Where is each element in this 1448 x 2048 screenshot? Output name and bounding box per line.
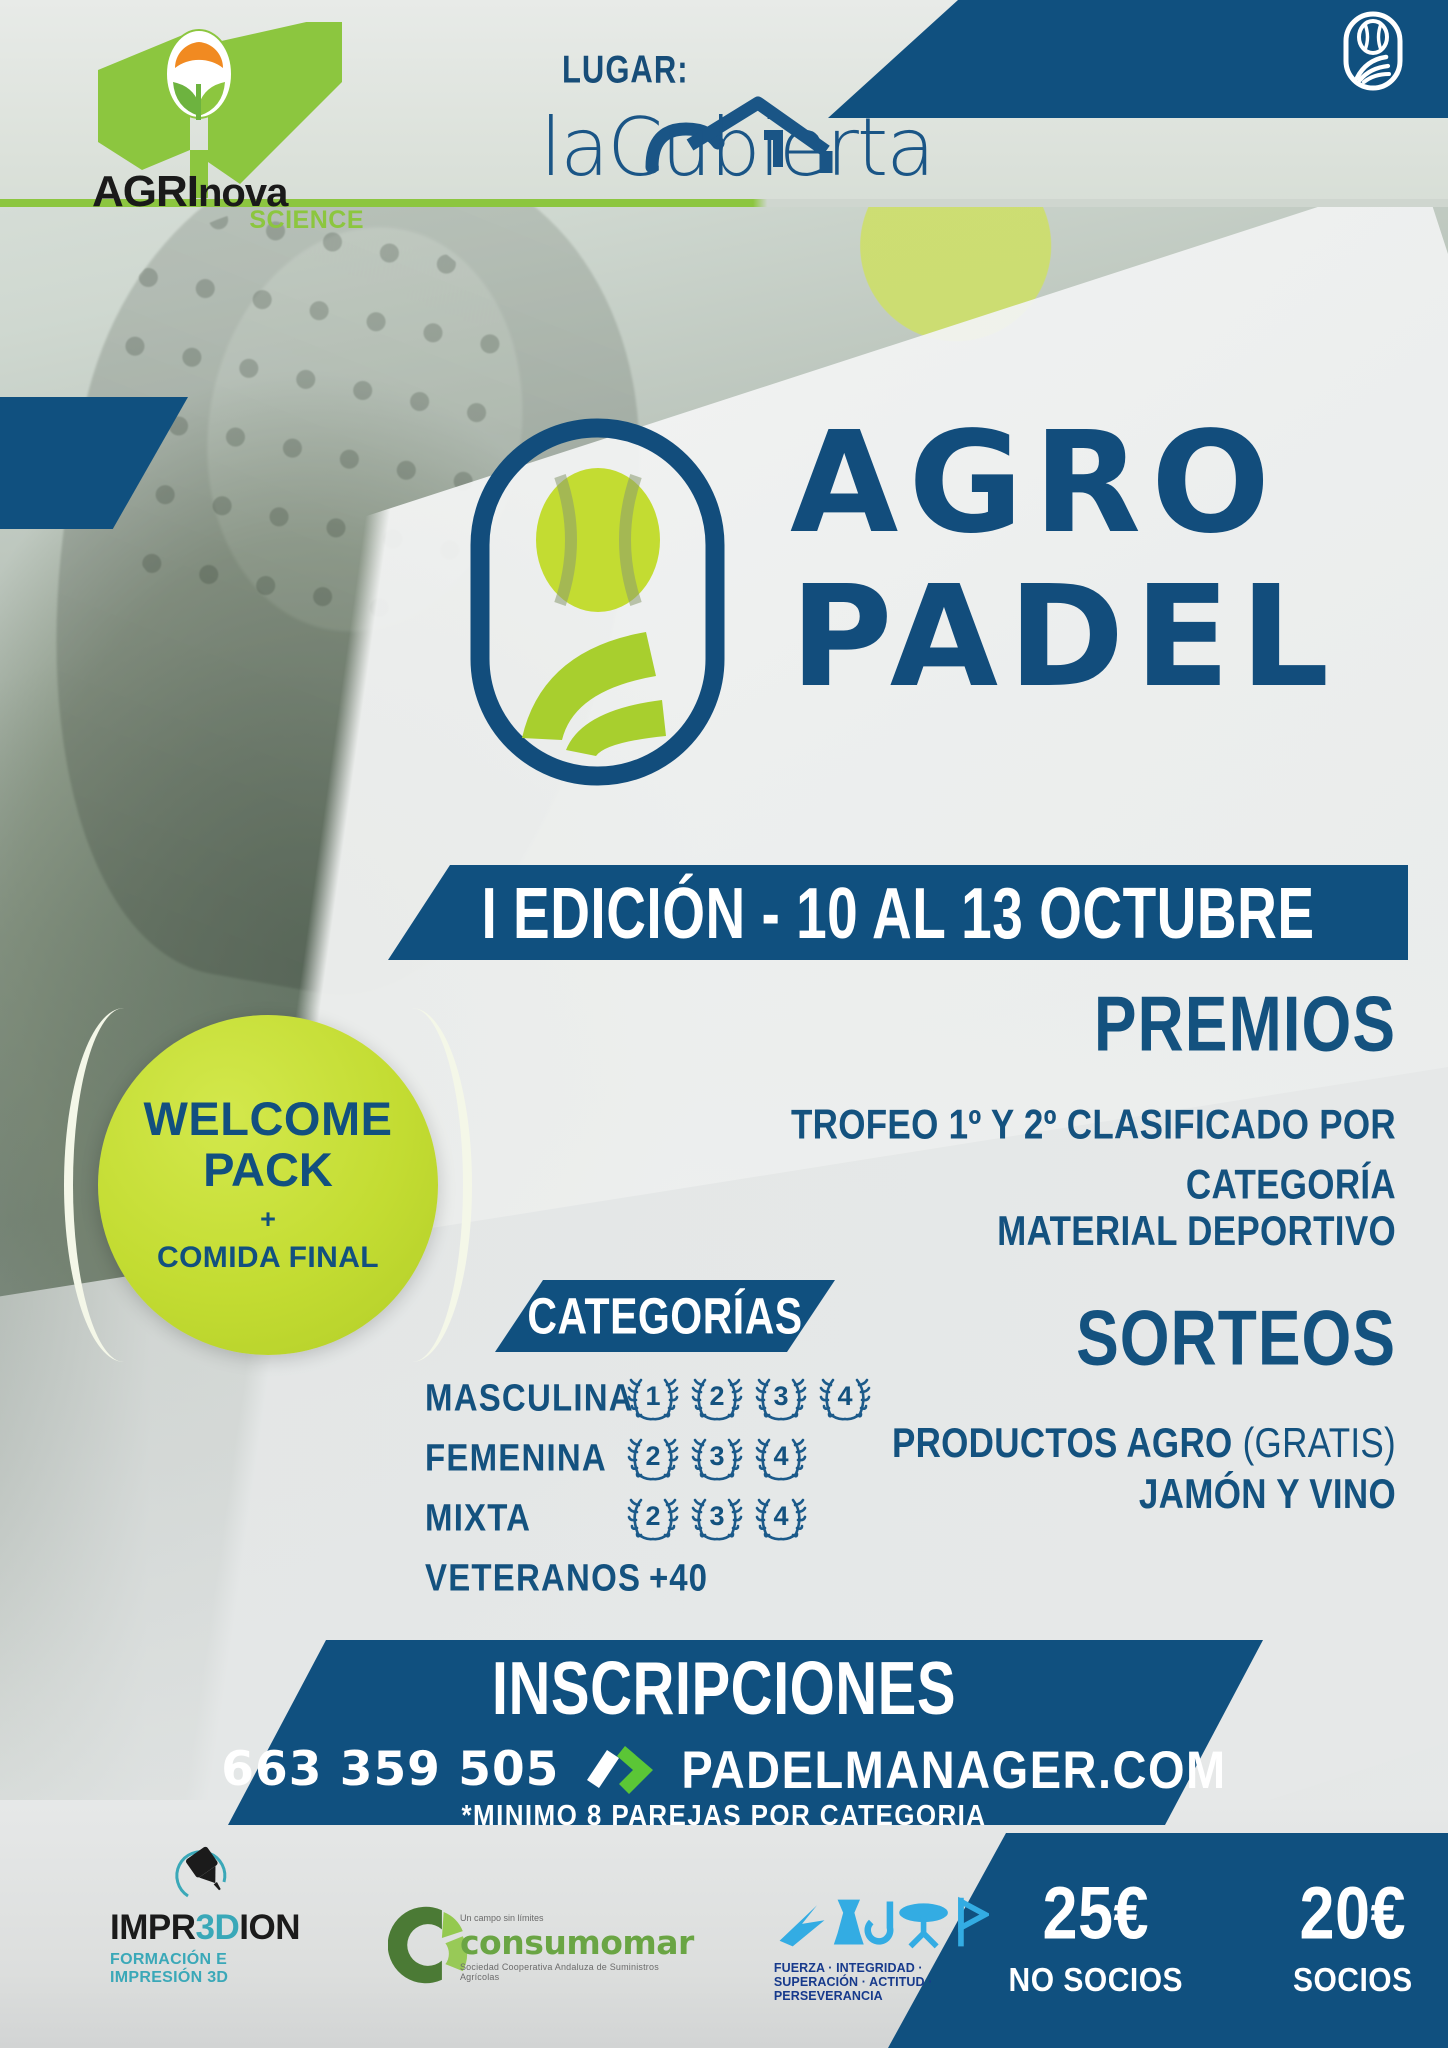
raffles-line-1-light: (GRATIS)	[1243, 1421, 1396, 1467]
consumomar-c-icon	[388, 1901, 468, 1994]
edition-banner: I EDICIÓN - 10 AL 13 OCTUBRE	[388, 865, 1408, 960]
sponsor-impr3dion: IMPR3DION FORMACIÓN E IMPRESIÓN 3D	[110, 1908, 300, 1987]
welcome-line-3: COMIDA FINAL	[157, 1241, 379, 1275]
hero-line-padel: PADEL	[790, 571, 1350, 704]
sponsor-name-a: IMPR	[110, 1908, 196, 1947]
category-name: FEMENINA	[425, 1436, 625, 1479]
laurel-icon: 2	[689, 1372, 745, 1424]
venue-label: LUGAR:	[562, 48, 689, 93]
category-name: MASCULINA	[425, 1376, 625, 1419]
laurel-number: 4	[753, 1492, 809, 1544]
sponsor-consumomar: Un campo sin límites consumomar Sociedad…	[388, 1901, 694, 1994]
agrinova-wordmark: AGRInova SCIENCE	[92, 170, 362, 222]
price-non-members: 25€ NO SOCIOS	[978, 1883, 1214, 1998]
sponsor-name: IMPR3DION	[110, 1908, 300, 1948]
laurel-group: 1 2 3	[625, 1372, 873, 1424]
price-amount: 25€	[1042, 1877, 1149, 1951]
laurel-icon: 1	[625, 1372, 681, 1424]
category-row-mixta: MIXTA 2 3	[425, 1488, 945, 1548]
agropadel-mark-icon	[470, 418, 725, 786]
welcome-plus: +	[260, 1204, 276, 1235]
lacubierta-logo: laCubierta	[540, 95, 960, 200]
laurel-group: 2 3 4	[625, 1432, 809, 1484]
laurel-number: 3	[689, 1492, 745, 1544]
registration-platform[interactable]: PADELMANAGER.COM	[681, 1739, 1226, 1801]
agropadel-ball-field-icon	[1342, 10, 1404, 92]
prizes-title: PREMIOS	[1094, 979, 1396, 1069]
category-name: MIXTA	[425, 1496, 625, 1539]
welcome-pack-ball: WELCOME PACK + COMIDA FINAL	[98, 1015, 438, 1355]
sponsor-tagline: Sociedad Cooperativa Andaluza de Suminis…	[460, 1962, 694, 1982]
registration-phone[interactable]: 663 359 505	[221, 1742, 559, 1797]
laurel-number: 2	[625, 1432, 681, 1484]
categories-banner: CATEGORÍAS	[495, 1280, 835, 1352]
category-name: VETERANOS	[425, 1556, 625, 1599]
sponsor-name: consumomar	[460, 1923, 694, 1962]
laurel-number: 1	[625, 1372, 681, 1424]
sponsor-tagline: FUERZA · INTEGRIDAD · SUPERACIÓN · ACTIT…	[774, 1961, 989, 2003]
sponsor-row: IMPR3DION FORMACIÓN E IMPRESIÓN 3D Un ca…	[110, 1882, 830, 2012]
poster: AGRInova SCIENCE LUGAR: laCubierta AGRO …	[0, 0, 1448, 2048]
laurel-icon: 3	[753, 1372, 809, 1424]
prizes-line-1: TROFEO 1º Y 2º CLASIFICADO POR CATEGORÍA	[706, 1096, 1396, 1216]
venue-name: laCubierta	[540, 101, 933, 194]
hero-line-agro: AGRO	[790, 420, 1350, 549]
sponsor-fisap: FUERZA · INTEGRIDAD · SUPERACIÓN · ACTIT…	[774, 1892, 989, 2003]
laurel-icon: 3	[689, 1492, 745, 1544]
raffles-title: SORTEOS	[1076, 1293, 1396, 1383]
laurel-group: 2 3 4	[625, 1492, 809, 1544]
prizes-line-2: MATERIAL DEPORTIVO	[706, 1202, 1396, 1262]
price-label: SOCIOS	[1293, 1962, 1413, 1999]
padelmanager-chevron-icon	[585, 1744, 655, 1796]
printer-3d-icon	[168, 1846, 238, 1913]
hero-title: AGRO PADEL	[790, 420, 1350, 704]
price-label: NO SOCIOS	[1009, 1962, 1184, 1999]
laurel-icon: 3	[689, 1432, 745, 1484]
welcome-line-2: PACK	[203, 1144, 333, 1197]
brand-science: SCIENCE	[249, 208, 364, 233]
sponsor-name-b: 3D	[196, 1908, 240, 1947]
sponsor-top-note: Un campo sin límites	[460, 1913, 694, 1923]
laurel-number: 4	[753, 1432, 809, 1484]
laurel-number: 4	[817, 1372, 873, 1424]
edition-text: I EDICIÓN - 10 AL 13 OCTUBRE	[481, 870, 1314, 954]
category-row-femenina: FEMENINA 2 3	[425, 1428, 945, 1488]
brand-agri: AGRI	[92, 167, 198, 216]
laurel-icon: 2	[625, 1432, 681, 1484]
sponsor-tagline: FORMACIÓN E IMPRESIÓN 3D	[110, 1951, 300, 1987]
category-row-veteranos: VETERANOS +40	[425, 1548, 945, 1608]
laurel-number: 3	[753, 1372, 809, 1424]
laurel-number: 3	[689, 1432, 745, 1484]
registration-title: INSCRIPCIONES	[0, 1645, 1448, 1732]
laurel-icon: 4	[817, 1372, 873, 1424]
sponsor-name-c: ION	[239, 1908, 300, 1947]
registration-contact-row: 663 359 505 PADELMANAGER.COM	[0, 1742, 1448, 1797]
welcome-line-1: WELCOME	[144, 1095, 393, 1144]
price-amount: 20€	[1299, 1877, 1406, 1951]
category-row-masculina: MASCULINA 1 2	[425, 1368, 945, 1428]
laurel-number: 2	[689, 1372, 745, 1424]
laurel-icon: 4	[753, 1432, 809, 1484]
fisap-pictogram-icon	[774, 1941, 989, 1958]
categories-banner-text: CATEGORÍAS	[527, 1287, 802, 1346]
registration-note: *MINIMO 8 PAREJAS POR CATEGORIA	[0, 1798, 1448, 1832]
category-veteranos-value: +40	[649, 1556, 708, 1599]
price-members: 20€ SOCIOS	[1258, 1883, 1448, 1998]
laurel-icon: 4	[753, 1492, 809, 1544]
laurel-icon: 2	[625, 1492, 681, 1544]
laurel-number: 2	[625, 1492, 681, 1544]
categories-rows: MASCULINA 1 2	[425, 1368, 945, 1608]
